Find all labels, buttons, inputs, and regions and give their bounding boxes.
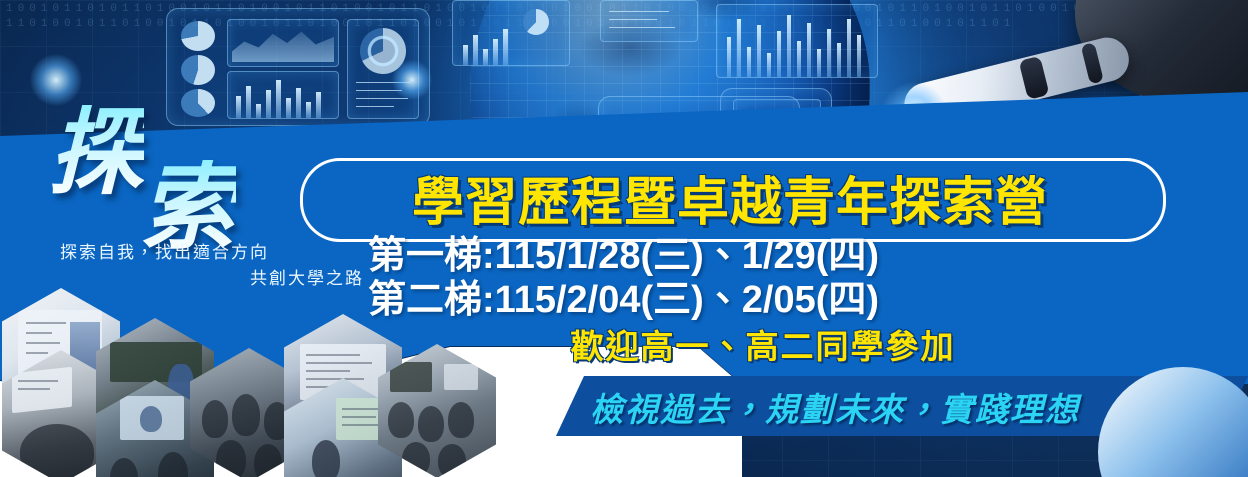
hud-panel-small-a — [452, 0, 570, 66]
hud-dashboard-panel — [166, 8, 430, 126]
event-promo-banner: 1001011010110100101101001011010010110100… — [0, 0, 1248, 477]
date-line-batch-1: 第一梯:115/1/28(三)、1/29(四) — [368, 234, 1158, 278]
hud-panel-candlestick — [716, 4, 878, 78]
title-char-tan: 探 — [48, 105, 144, 201]
glow-accent-1 — [392, 60, 432, 100]
subtitle-line-1: 探索自我，找出適合方向 — [60, 243, 269, 262]
headline-text: 學習歷程暨卓越青年探索營 — [310, 162, 1150, 232]
hud-panel-small-b — [600, 0, 698, 42]
subtitle-block: 探索自我，找出適合方向 共創大學之路 — [60, 240, 370, 292]
photo-collage — [0, 286, 490, 477]
